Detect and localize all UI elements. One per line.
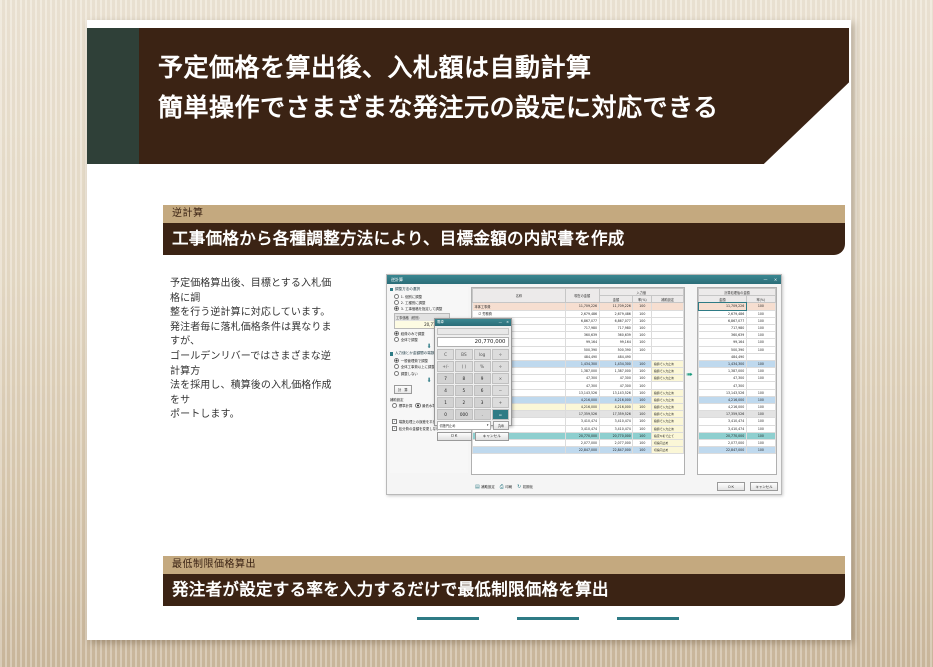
calculator-key-9[interactable]: 9	[474, 373, 491, 384]
table-row[interactable]: 47,300100	[699, 375, 776, 382]
col-result-rate: 率(%)	[746, 296, 775, 303]
body-copy-line-5: 法を採用し、積算後の入札価格作成をサ	[170, 379, 335, 408]
calculator-key-0[interactable]: 0	[437, 409, 454, 420]
cell-helper[interactable]: 指値で入力止め	[652, 368, 684, 375]
calculator-cancel-button[interactable]: キャンセル	[475, 432, 510, 442]
group-label-adjust-method: 調整方法の選択	[390, 287, 468, 292]
cell-helper[interactable]	[652, 310, 684, 317]
cell-input-amount[interactable]: 2,077,000	[599, 439, 633, 446]
input-grid-head: 名称 現在の金額 入力値 金額 率(%) 補助設定	[473, 289, 684, 303]
cell-helper[interactable]: 指値で入力止め	[652, 425, 684, 432]
radio-label: 一般管理費で調整	[401, 358, 428, 363]
cell-result-rate: 100	[746, 339, 775, 346]
cell-input-amount[interactable]: 47,300	[599, 375, 633, 382]
app-screenshot: 逆計算 — × 調整方法の選択 1. 個別に調整 2. 工種別に調整 3. 工事…	[386, 274, 782, 495]
calculator-close-icon[interactable]: ×	[506, 319, 509, 326]
app-window-body: 調整方法の選択 1. 個別に調整 2. 工種別に調整 3. 工事価格を指定して調…	[387, 284, 781, 494]
section-header-saitei-seigen: 最低制限価格算出 発注者が設定する率を入力するだけで最低制限価格を算出	[163, 556, 845, 606]
table-row[interactable]: 20,770,000100	[699, 432, 776, 439]
cell-current-amount: 3,410,474	[565, 425, 599, 432]
cell-current-amount: 484,490	[565, 353, 599, 360]
result-grid-header-row-1: 計算処理後の金額	[699, 289, 776, 296]
cell-helper[interactable]: 指値で入力止め	[652, 396, 684, 403]
radio-label: 3. 工事価格を指定して調整	[401, 306, 443, 311]
cell-input-amount[interactable]: 3,410,474	[599, 425, 633, 432]
cell-helper[interactable]: 指値で入力止め	[652, 418, 684, 425]
radio-icon-selected	[415, 403, 420, 408]
body-copy-line-4: ゴールデンリバーではさまざまな逆計算方	[170, 350, 335, 379]
header-title: 予定価格を算出後、入札額は自動計算 簡単操作でさまざまな発注元の設定に対応できる	[158, 48, 808, 128]
table-row[interactable]: 1,434,300100	[699, 360, 776, 367]
cell-result-rate: 100	[746, 389, 775, 396]
radio-icon	[394, 371, 399, 376]
footer-settings-action[interactable]: ▤補助設定	[475, 484, 495, 490]
radio-icon	[394, 364, 399, 369]
cell-result-amount: 360,639	[699, 332, 747, 339]
cell-input-amount[interactable]: 22,847,000	[599, 447, 633, 454]
cell-rate[interactable]: 100	[633, 411, 652, 418]
cell-current-amount: 3,410,474	[565, 418, 599, 425]
cell-result-rate: 100	[746, 375, 775, 382]
footer-reset-label: 初期化	[523, 484, 533, 489]
teal-accent-segment-2	[517, 617, 579, 620]
settings-icon: ▤	[475, 484, 480, 490]
cell-input-amount[interactable]: 484,490	[599, 353, 633, 360]
cell-rate[interactable]: 100	[633, 396, 652, 403]
radio-label: 経費のみで調整	[401, 331, 425, 336]
calculator-ok-button[interactable]: ＯＫ	[437, 432, 472, 442]
cell-result-rate: 100	[746, 404, 775, 411]
footer-print-label: 印刷	[505, 484, 512, 489]
cell-name: ☑ 労務費	[473, 310, 566, 317]
cell-rate[interactable]: 100	[633, 375, 652, 382]
header-title-line1: 予定価格を算出後、入札額は自動計算	[158, 48, 808, 88]
cell-input-amount[interactable]: 11,709,226	[599, 303, 633, 310]
cell-helper[interactable]	[652, 353, 684, 360]
table-row[interactable]: 3,410,474100	[699, 425, 776, 432]
table-row[interactable]: 2,679,486100	[699, 310, 776, 317]
cell-current-amount: 22,847,000	[565, 447, 599, 454]
cell-rate[interactable]: 100	[633, 317, 652, 324]
table-row[interactable]: 4,216,000100	[699, 404, 776, 411]
col-helper: 補助設定	[652, 296, 684, 303]
radio-label: 標準計算	[399, 403, 413, 408]
calculator-key-[interactable]: −	[492, 385, 509, 396]
cell-result-amount: 11,709,226	[699, 303, 747, 310]
cell-result-rate: 100	[746, 396, 775, 403]
round-button[interactable]: 丸め	[493, 421, 509, 430]
cell-helper[interactable]: 指値で入力止め	[652, 404, 684, 411]
radio-icon	[394, 300, 399, 305]
table-row[interactable]: 11,709,226100	[699, 303, 776, 310]
group-2-text: 入力値とか金額間の端数処	[395, 351, 438, 356]
calculator-minimize-icon[interactable]: —	[499, 319, 502, 326]
calculator-key-000[interactable]: 000	[455, 409, 472, 420]
cell-result-rate: 100	[746, 411, 775, 418]
footer-settings-label: 補助設定	[481, 484, 495, 489]
cell-result-rate: 100	[746, 324, 775, 331]
radio-label: 1. 個別に調整	[401, 294, 422, 299]
table-row[interactable]: 484,490	[699, 353, 776, 360]
cell-input-amount[interactable]: 3,410,474	[599, 418, 633, 425]
section-1-title: 工事価格から各種調整方法により、目標金額の内訳書を作成	[163, 223, 845, 255]
calculator-key-[interactable]: ×	[492, 373, 509, 384]
calculate-button[interactable]: 計 算	[394, 385, 412, 394]
table-row[interactable]: 22,847,00022,847,000100切捨円止め	[473, 447, 684, 454]
footer-reset-action[interactable]: ↻初期化	[517, 484, 533, 490]
cell-helper[interactable]	[652, 303, 684, 310]
cell-current-amount: 1,434,300	[565, 360, 599, 367]
calculator-key-3[interactable]: 3	[474, 397, 491, 408]
body-copy-line-1: 予定価格算出後、目標とする入札価格に調	[170, 277, 335, 306]
calculator-rounding-row: 切捨円止め ▾ 丸め	[437, 421, 509, 430]
calculator-key-[interactable]: ÷	[492, 349, 509, 360]
radio-lowest-level[interactable]: 最低水準	[415, 403, 435, 408]
cell-helper[interactable]	[652, 382, 684, 389]
section-1-tag: 逆計算	[163, 205, 845, 223]
table-row[interactable]: 47,300	[699, 382, 776, 389]
cell-result-amount: 500,390	[699, 346, 747, 353]
cell-rate[interactable]: 100	[633, 382, 652, 389]
cell-current-amount: 20,770,000	[565, 432, 599, 439]
app-window-title: 逆計算	[391, 277, 403, 282]
col-input-group: 入力値	[599, 289, 683, 296]
col-result-amount: 金額	[699, 296, 747, 303]
cell-current-amount: 11,709,226	[565, 303, 599, 310]
cell-result-rate: 100	[746, 332, 775, 339]
calculator-key-1[interactable]: 1	[437, 397, 454, 408]
cell-helper[interactable]: 指値で入力止め	[652, 375, 684, 382]
radio-icon-selected	[394, 358, 399, 363]
section-2-title: 発注者が設定する率を入力するだけで最低制限価格を算出	[163, 574, 845, 606]
radio-label: 調整しない	[401, 371, 418, 376]
rounding-mode-select[interactable]: 切捨円止め ▾	[437, 421, 491, 430]
cell-rate[interactable]: 100	[633, 346, 652, 353]
cell-result-amount: 2,077,000	[699, 439, 747, 446]
table-row[interactable]: 1,387,000100	[699, 368, 776, 375]
cell-rate[interactable]	[633, 353, 652, 360]
cell-rate[interactable]: 100	[633, 439, 652, 446]
calculator-memo-strip	[437, 328, 509, 335]
cell-rate[interactable]: 100	[633, 404, 652, 411]
cell-input-amount[interactable]: 2,679,486	[599, 310, 633, 317]
table-row[interactable]: 17,359,526100	[699, 411, 776, 418]
cell-current-amount: 4,216,000	[565, 404, 599, 411]
calculator-keypad[interactable]: CBSlog÷+/-( )%÷789×456−123+0000.=	[437, 349, 509, 420]
app-close-icon[interactable]: ×	[771, 276, 780, 283]
radio-standard-calc[interactable]: 標準計算	[392, 403, 412, 408]
cell-rate[interactable]: 100	[633, 360, 652, 367]
cell-input-amount[interactable]: 4,216,000	[599, 404, 633, 411]
result-grid-header-row-2: 金額 率(%)	[699, 296, 776, 303]
calculator-key-BS[interactable]: BS	[455, 349, 472, 360]
cell-name	[473, 447, 566, 454]
cell-input-amount[interactable]: 360,639	[599, 332, 633, 339]
table-row[interactable]: 500,390100	[699, 346, 776, 353]
col-amount: 金額	[599, 296, 633, 303]
cell-current-amount: 47,300	[565, 375, 599, 382]
calculator-title: 電卓	[437, 320, 444, 324]
calculator-dialog[interactable]: 電卓 — × 20,770,000 CBSlog÷+/-( )%÷789×456…	[434, 318, 512, 426]
cell-result-amount: 13,143,526	[699, 389, 747, 396]
cell-current-amount: 17,359,526	[565, 411, 599, 418]
result-grid-body: 11,709,2261002,679,4861006,867,077100717…	[699, 303, 776, 454]
calculator-key-2[interactable]: 2	[455, 397, 472, 408]
cell-current-amount: 2,679,486	[565, 310, 599, 317]
cell-result-amount: 20,770,000	[699, 432, 747, 439]
calculator-key-log[interactable]: log	[474, 349, 491, 360]
radio-label: 全体で調整	[401, 337, 418, 342]
table-row[interactable]: 22,847,000100	[699, 447, 776, 454]
cell-result-amount: 1,434,300	[699, 360, 747, 367]
radio-icon-selected	[394, 306, 399, 311]
cell-result-amount: 2,679,486	[699, 310, 747, 317]
calculator-key-[interactable]: ( )	[455, 361, 472, 372]
checkbox-icon-checked: ✓	[392, 419, 397, 424]
radio-individual-adjust[interactable]: 1. 個別に調整	[394, 294, 468, 299]
result-grid[interactable]: 計算処理後の金額 金額 率(%) 11,709,2261002,679,4861…	[697, 287, 777, 475]
footer-print-action[interactable]: ⎙印刷	[500, 484, 512, 490]
calculator-display: 20,770,000	[437, 337, 509, 347]
calculator-key-8[interactable]: 8	[455, 373, 472, 384]
cell-current-amount: 99,164	[565, 339, 599, 346]
radio-icon	[394, 294, 399, 299]
cell-rate[interactable]: 100	[633, 332, 652, 339]
radio-specify-price-adjust[interactable]: 3. 工事価格を指定して調整	[394, 306, 468, 311]
cell-helper[interactable]	[652, 346, 684, 353]
section-2-tag: 最低制限価格算出	[163, 556, 845, 574]
calculator-key-[interactable]: +/-	[437, 361, 454, 372]
calculator-key-[interactable]: ÷	[492, 361, 509, 372]
cell-result-rate: 100	[746, 310, 775, 317]
cell-result-rate: 100	[746, 303, 775, 310]
cell-input-amount[interactable]: 6,867,077	[599, 317, 633, 324]
radio-by-worktype-adjust[interactable]: 2. 工種別に調整	[394, 300, 468, 305]
calculator-key-4[interactable]: 4	[437, 385, 454, 396]
cell-result-rate: 100	[746, 432, 775, 439]
checkbox-label: 処分費の金額を変更しない	[399, 426, 440, 431]
cell-result-amount: 99,164	[699, 339, 747, 346]
table-row[interactable]: 13,143,526100	[699, 389, 776, 396]
cell-input-amount[interactable]: 500,390	[599, 346, 633, 353]
cell-result-amount: 47,300	[699, 375, 747, 382]
calculator-key-7[interactable]: 7	[437, 373, 454, 384]
cell-rate[interactable]: 100	[633, 389, 652, 396]
calculator-action-row: ＯＫ キャンセル	[437, 432, 509, 442]
cell-rate[interactable]: 100	[633, 432, 652, 439]
cell-input-amount[interactable]: 47,300	[599, 382, 633, 389]
cell-current-amount: 360,639	[565, 332, 599, 339]
chevron-down-icon: ▾	[487, 423, 489, 428]
cell-input-amount[interactable]: 1,434,300	[599, 360, 633, 367]
input-grid-header-row-1: 名称 現在の金額 入力値	[473, 289, 684, 296]
result-grid-head: 計算処理後の金額 金額 率(%)	[699, 289, 776, 303]
cell-current-amount: 4,216,000	[565, 396, 599, 403]
calculator-key-6[interactable]: 6	[474, 385, 491, 396]
cell-current-amount: 13,143,526	[565, 389, 599, 396]
body-copy-line-3: 発注者毎に落札価格条件は異なりますが、	[170, 321, 335, 350]
cell-result-amount: 4,216,000	[699, 396, 747, 403]
torn-edge-wave	[87, 617, 851, 643]
cell-result-rate: 100	[746, 368, 775, 375]
cell-current-amount: 6,867,077	[565, 317, 599, 324]
calculator-key-[interactable]: +	[492, 397, 509, 408]
cell-result-rate: 100	[746, 346, 775, 353]
cell-rate[interactable]: 100	[633, 310, 652, 317]
table-row[interactable]: 717,980100	[699, 324, 776, 331]
cell-input-amount[interactable]: 17,359,526	[599, 411, 633, 418]
calculator-key-[interactable]: .	[474, 409, 491, 420]
cell-helper[interactable]: 切捨円止め	[652, 439, 684, 446]
result-grid-table: 計算処理後の金額 金額 率(%) 11,709,2261002,679,4861…	[698, 288, 776, 454]
app-ok-button[interactable]: ＯＫ	[717, 482, 745, 491]
cell-helper[interactable]	[652, 317, 684, 324]
radio-label: 2. 工種別に調整	[401, 300, 426, 305]
cell-rate[interactable]: 100	[633, 324, 652, 331]
table-row[interactable]: 99,164100	[699, 339, 776, 346]
cell-helper[interactable]	[652, 324, 684, 331]
col-current-amount: 現在の金額	[565, 289, 599, 303]
cell-result-rate: 100	[746, 360, 775, 367]
cell-result-amount: 3,410,474	[699, 418, 747, 425]
cell-result-amount: 484,490	[699, 353, 747, 360]
group-1-text: 調整方法の選択	[395, 287, 420, 292]
cell-result-amount: 17,359,526	[699, 411, 747, 418]
torn-paper-edge	[87, 617, 851, 643]
table-row[interactable]: ☑ 労務費2,679,4862,679,486100	[473, 310, 684, 317]
cell-rate[interactable]: 100	[633, 303, 652, 310]
body-copy-line-2: 整を行う逆計算に対応しています。	[170, 306, 335, 321]
cell-current-amount: 717,980	[565, 324, 599, 331]
cell-current-amount: 2,077,000	[565, 439, 599, 446]
cell-result-amount: 717,980	[699, 324, 747, 331]
body-copy-line-6: ポートします。	[170, 408, 335, 423]
cell-rate[interactable]: 100	[633, 447, 652, 454]
cell-input-amount[interactable]: 13,143,526	[599, 389, 633, 396]
cell-current-amount: 500,390	[565, 346, 599, 353]
group-marker-icon	[390, 288, 393, 291]
cell-current-amount: 1,387,000	[565, 368, 599, 375]
cell-input-amount[interactable]: 4,216,000	[599, 396, 633, 403]
cell-result-amount: 3,410,474	[699, 425, 747, 432]
calculator-key-[interactable]: %	[474, 361, 491, 372]
cell-helper[interactable]	[652, 332, 684, 339]
cell-result-rate	[746, 382, 775, 389]
group-marker-icon	[390, 352, 393, 355]
calculator-titlebar: 電卓 — ×	[435, 319, 511, 326]
cell-input-amount[interactable]: 20,770,000	[599, 432, 633, 439]
teal-accent-segment-1	[417, 617, 479, 620]
cell-input-amount[interactable]: 1,387,000	[599, 368, 633, 375]
radio-icon-selected	[394, 331, 399, 336]
section-header-gyakukeisan: 逆計算 工事価格から各種調整方法により、目標金額の内訳書を作成	[163, 205, 845, 255]
cell-helper[interactable]	[652, 339, 684, 346]
cell-name: 本体工事費	[473, 303, 566, 310]
printer-icon: ⎙	[500, 484, 504, 490]
calculator-key-5[interactable]: 5	[455, 385, 472, 396]
cell-result-amount: 22,847,000	[699, 447, 747, 454]
cell-helper[interactable]: 指定キ桁で止て	[652, 432, 684, 439]
body-copy: 予定価格算出後、目標とする入札価格に調 整を行う逆計算に対応しています。 発注者…	[170, 277, 335, 423]
table-row[interactable]: 2,077,000100	[699, 439, 776, 446]
cell-rate[interactable]: 100	[633, 418, 652, 425]
radio-icon	[392, 403, 397, 408]
app-minimize-icon[interactable]: —	[761, 276, 770, 283]
cell-rate[interactable]: 100	[633, 339, 652, 346]
col-rate: 率(%)	[633, 296, 652, 303]
cell-rate[interactable]: 100	[633, 425, 652, 432]
table-row[interactable]: 3,410,474100	[699, 418, 776, 425]
cell-current-amount: 47,300	[565, 382, 599, 389]
cell-result-amount: 1,387,000	[699, 368, 747, 375]
transfer-arrow-icon: ➠	[686, 370, 693, 379]
cell-result-rate: 100	[746, 447, 775, 454]
reset-icon: ↻	[517, 484, 521, 490]
radio-icon	[394, 337, 399, 342]
cell-result-rate: 100	[746, 439, 775, 446]
col-name: 名称	[473, 289, 566, 303]
cell-rate[interactable]: 100	[633, 368, 652, 375]
cell-input-amount[interactable]: 717,980	[599, 324, 633, 331]
teal-accent-segment-3	[617, 617, 679, 620]
app-cancel-button[interactable]: キャンセル	[750, 482, 778, 491]
cell-result-rate: 100	[746, 317, 775, 324]
table-row[interactable]: 4,216,000100	[699, 396, 776, 403]
cell-helper[interactable]: 指値で入力止め	[652, 411, 684, 418]
cell-helper[interactable]: 指値で入力止め	[652, 389, 684, 396]
cell-result-amount: 4,216,000	[699, 404, 747, 411]
calculator-key-C[interactable]: C	[437, 349, 454, 360]
app-footer-toolbar: ▤補助設定 ⎙印刷 ↻初期化 ＯＫ キャンセル	[390, 481, 778, 492]
calculator-key-[interactable]: =	[492, 409, 509, 420]
rounding-mode-value: 切捨円止め	[440, 423, 456, 428]
header-title-line2: 簡単操作でさまざまな発注元の設定に対応できる	[158, 88, 808, 128]
table-row[interactable]: 本体工事費11,709,22611,709,226100	[473, 303, 684, 310]
table-row[interactable]: 6,867,077100	[699, 317, 776, 324]
cell-result-rate	[746, 353, 775, 360]
col-result-group: 計算処理後の金額	[699, 289, 776, 296]
cell-input-amount[interactable]: 99,164	[599, 339, 633, 346]
checkbox-icon-checked: ✓	[392, 426, 397, 431]
table-row[interactable]: 360,639100	[699, 332, 776, 339]
cell-helper[interactable]: 指値で入力止め	[652, 360, 684, 367]
cell-result-amount: 6,867,077	[699, 317, 747, 324]
cell-result-rate: 100	[746, 425, 775, 432]
app-window-titlebar: 逆計算 — ×	[387, 275, 781, 284]
cell-result-amount: 47,300	[699, 382, 747, 389]
cell-result-rate: 100	[746, 418, 775, 425]
header-green-bar	[87, 28, 139, 164]
slide-canvas: 予定価格を算出後、入札額は自動計算 簡単操作でさまざまな発注元の設定に対応できる…	[0, 0, 933, 667]
cell-helper[interactable]: 切捨円止め	[652, 447, 684, 454]
